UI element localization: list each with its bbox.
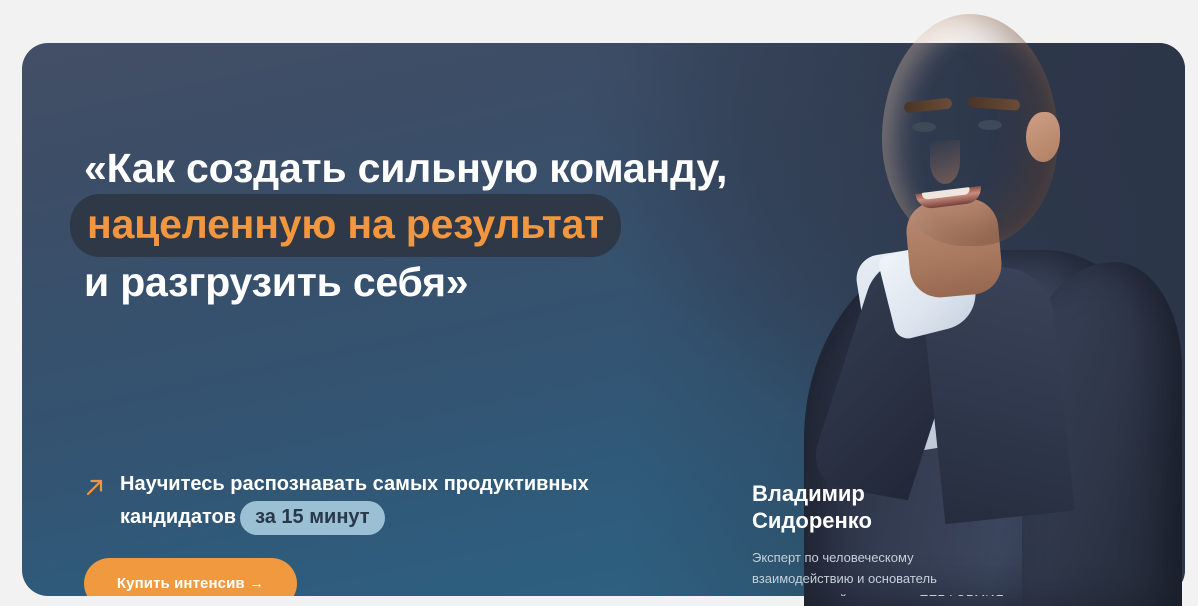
page-title: «Как создать сильную команду, нацеленную… [84,143,727,308]
headline-highlight: нацеленную на результат [70,194,621,257]
headline-line-3: и разгрузить себя» [84,257,727,308]
buy-intensive-button[interactable]: Купить интенсив → [84,558,297,596]
promo-banner-stage: «Как создать сильную команду, нацеленную… [0,0,1198,606]
hero-card: «Как создать сильную команду, нацеленную… [22,43,1185,596]
speaker-role: Эксперт по человеческому взаимодействию … [752,547,1082,596]
benefit-bullet: Научитесь распознавать самых продуктивны… [84,468,590,535]
duration-badge: за 15 минут [240,501,385,535]
headline-line-1: «Как создать сильную команду, [84,143,727,194]
benefit-text: Научитесь распознавать самых продуктивны… [120,468,590,535]
arrow-up-right-icon [84,476,106,498]
benefit-text-line-1: Научитесь распознавать самых [120,473,438,495]
speaker-name: Владимир Сидоренко [752,480,1082,534]
speaker-info: Владимир Сидоренко Эксперт по человеческ… [752,480,1082,596]
